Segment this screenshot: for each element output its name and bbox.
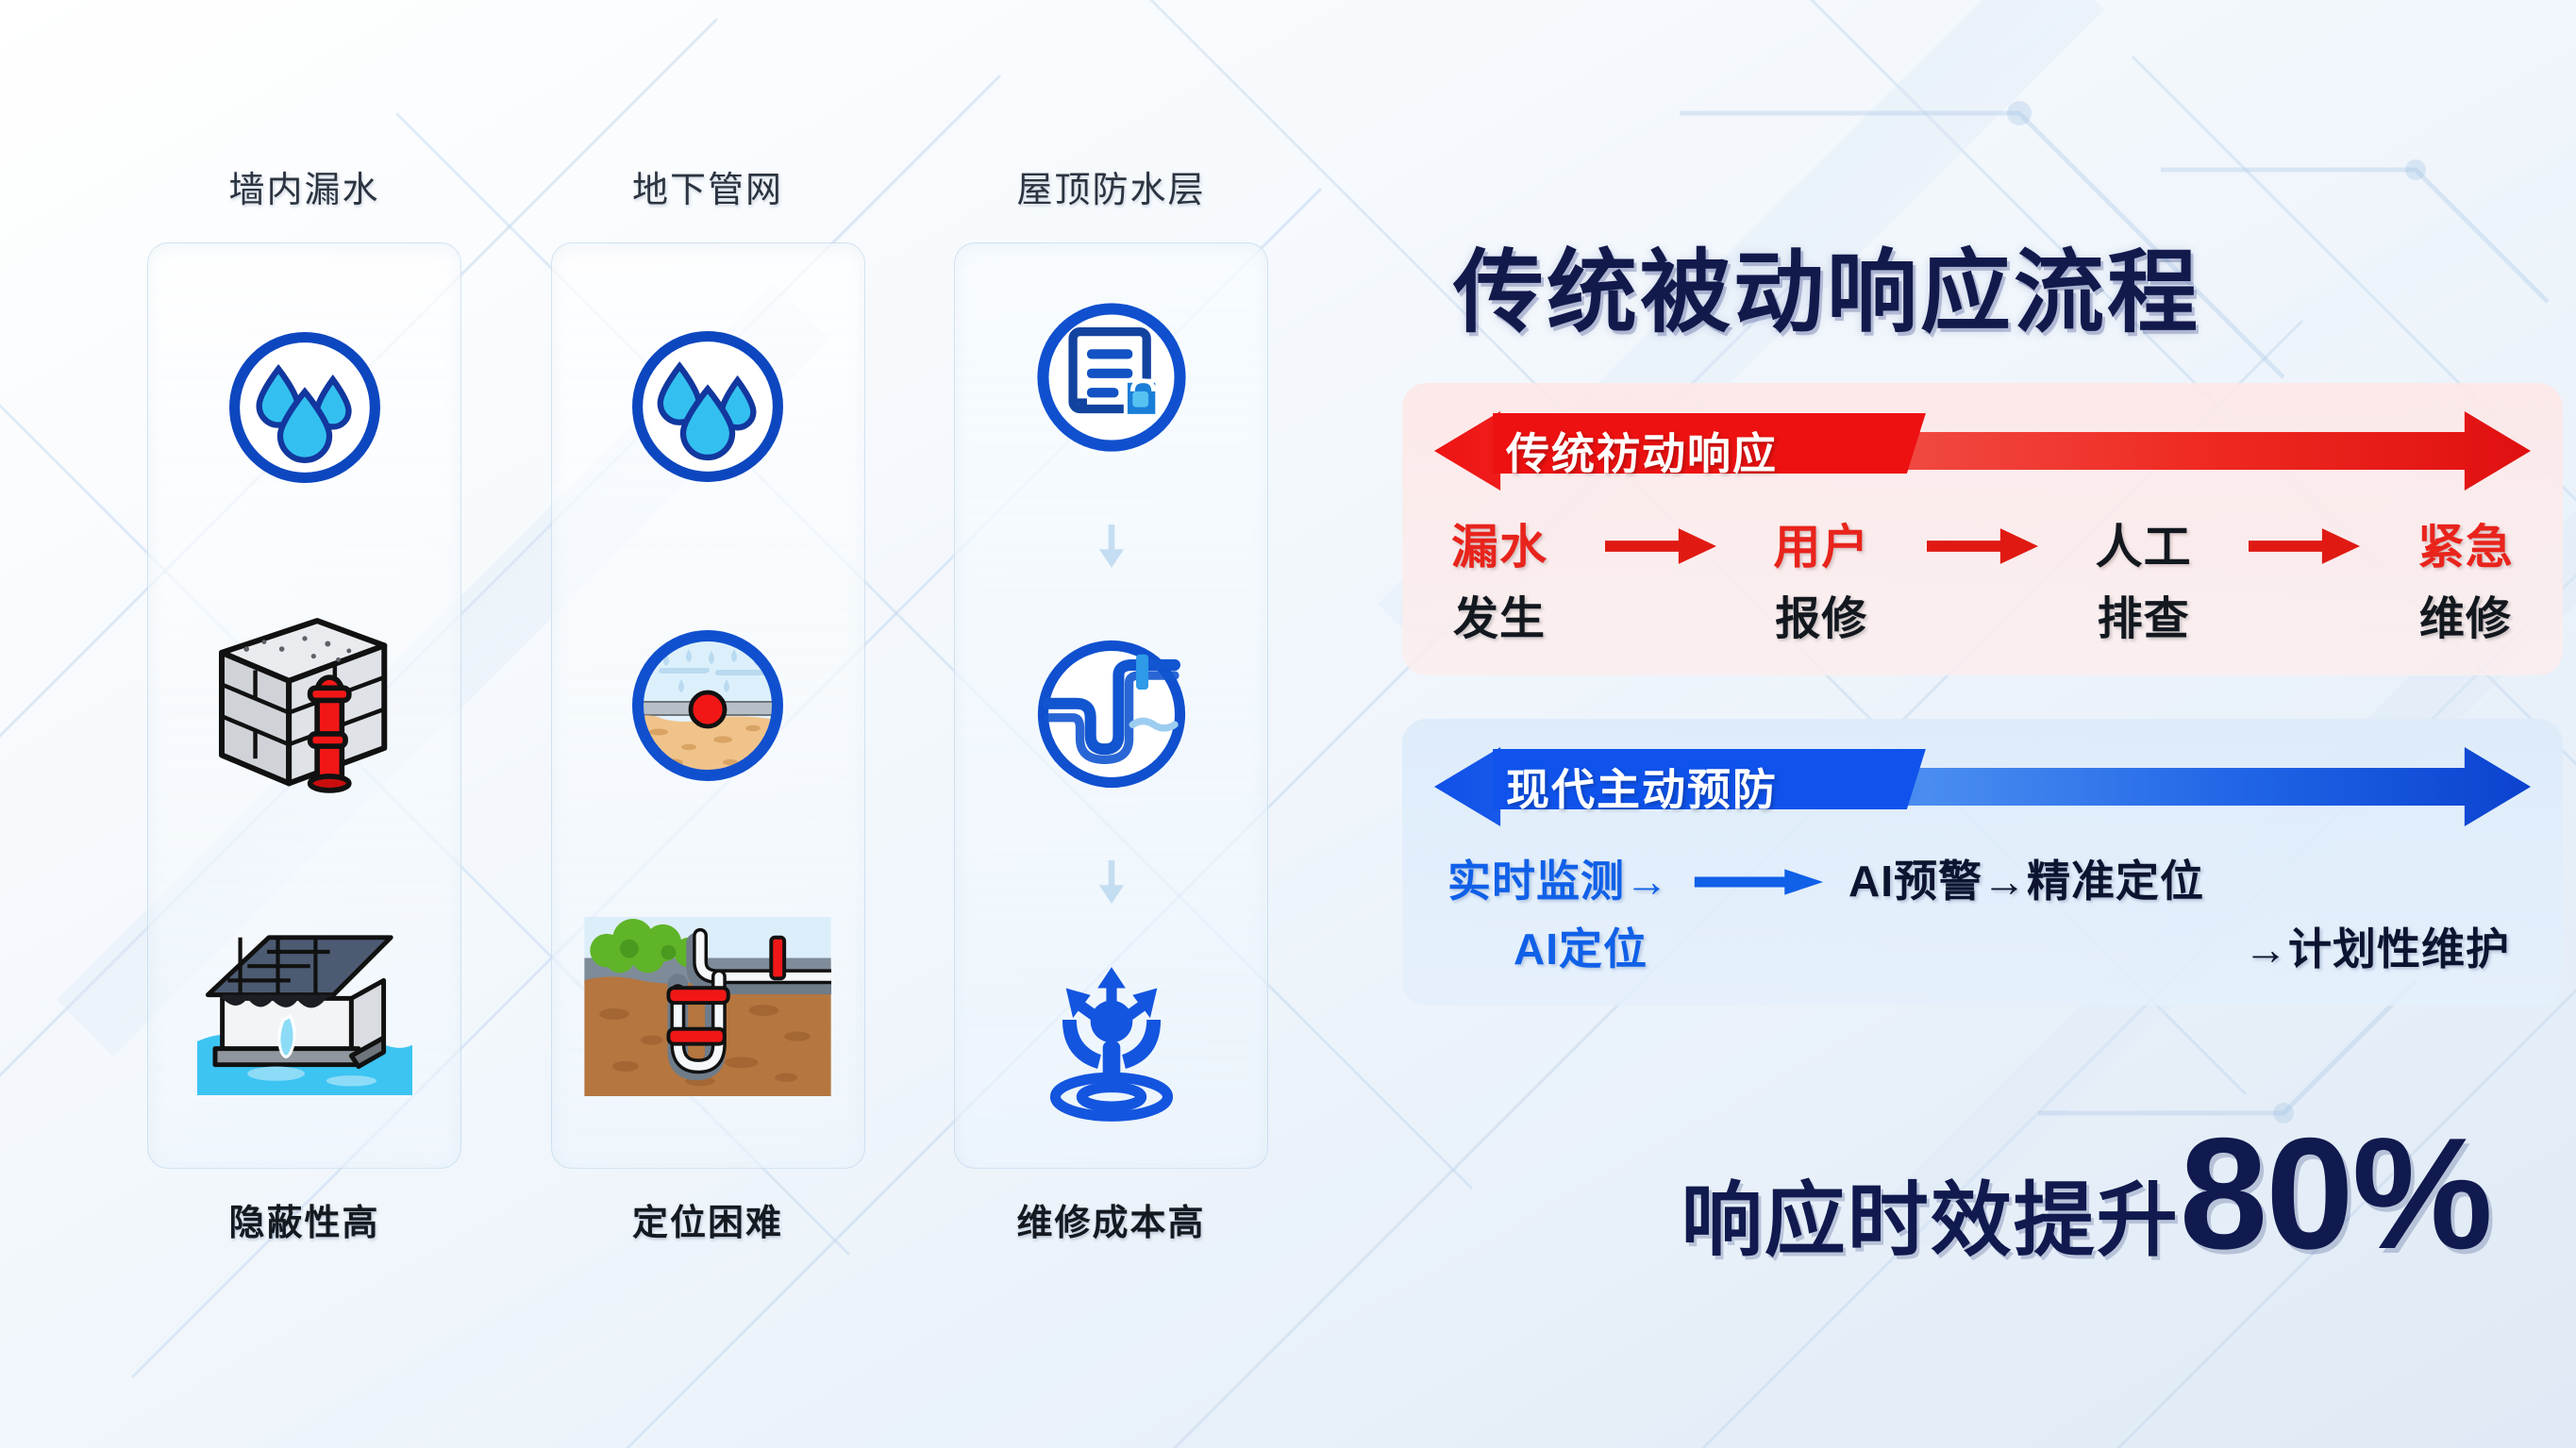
column-caption: 隐蔽性高 [228,1193,379,1245]
page-title: 传统被动响应流程 [1453,219,2200,350]
icon-slot [584,917,831,1096]
problem-column-underground-network[interactable]: 地下管网 [545,160,871,1245]
column-title: 地下管网 [632,160,783,212]
icon-slot [208,613,402,798]
modern-flow-card: 现代主动预防 实时监测→ AI预警→精准定位 AI定位 →计划性维护 [1402,719,2563,1006]
water-drops-circle-icon [620,319,795,494]
document-tag-circle-icon [1024,290,1199,465]
step-bottom-label: 排查 [2098,581,2190,647]
arrow-right-icon [1605,521,1716,572]
brick-wall-pipe-icon [208,613,402,798]
legacy-banner-label: 传统祊动响应 [1506,420,1778,482]
problem-column-wall-leak[interactable]: 墙内漏水 [142,160,467,1245]
modern-line1-right: AI预警→精准定位 [1848,847,2204,909]
column-card [954,242,1268,1169]
flow-step: 漏水 发生 [1451,509,1547,647]
column-title: 屋顶防水层 [1016,160,1205,212]
leak-detection-beacon-icon [1024,963,1199,1125]
icon-slot [1024,963,1199,1125]
icon-slot [1024,626,1199,802]
problem-column-roof-waterproofing[interactable]: 屋顶防水层 [948,160,1274,1245]
buried-pipe-section-icon [584,917,831,1096]
column-caption: 定位困难 [632,1193,783,1245]
step-top-label: 用户 [1773,509,1869,577]
modern-line1-left: 实时监测→ [1447,847,1669,909]
modern-banner-label: 现代主动预防 [1506,756,1778,818]
column-card [147,242,461,1169]
flow-step: 用户 报修 [1773,509,1869,647]
legacy-steps: 漏水 发生 用户 报修 人工 排查 [1434,509,2531,647]
modern-flow-banner: 现代主动预防 [1434,743,2531,830]
stat-value: 80% [2180,1123,2491,1265]
arrow-right-icon [1688,868,1830,896]
step-bottom-label: 发生 [1453,581,1546,647]
icon-slot [217,320,393,495]
icon-slot [613,611,802,800]
column-title: 墙内漏水 [228,160,379,212]
legacy-flow-card: 传统祊动响应 漏水 发生 用户 报修 [1402,383,2563,675]
underground-sensor-circle-icon [613,611,802,800]
flooded-house-icon [197,916,412,1095]
arrow-right-icon [1927,521,2038,572]
icon-slot [197,916,412,1095]
modern-flow-text: 实时监测→ AI预警→精准定位 AI定位 →计划性维护 [1434,847,2531,977]
step-bottom-label: 报修 [1775,581,1867,647]
water-drops-circle-icon [217,320,393,495]
modern-line2-right: →计划性维护 [2244,915,2510,977]
step-top-label: 紧急 [2417,509,2514,577]
problem-panel: 墙内漏水 [0,0,1359,1448]
problem-columns: 墙内漏水 [142,160,1274,1245]
chevron-down-icon [1092,860,1131,904]
column-card [551,242,865,1169]
stat-line: 响应时效提升 80% [1387,1123,2491,1272]
step-top-label: 漏水 [1451,509,1547,577]
column-caption: 维修成本高 [1016,1193,1205,1245]
step-top-label: 人工 [2096,509,2192,577]
stat-label: 响应时效提升 [1681,1154,2180,1272]
step-bottom-label: 维修 [2419,581,2512,647]
process-panel: 传统被动响应流程 [1359,0,2576,1448]
arrow-right-icon [2249,521,2360,572]
poster-stage: 墙内漏水 [0,0,2576,1448]
legacy-flow-banner: 传统祊动响应 [1434,408,2531,494]
pipe-trap-circle-icon [1024,626,1199,802]
chevron-down-icon [1092,524,1131,568]
icon-slot [1024,290,1199,465]
modern-line2-left: AI定位 [1514,915,1648,977]
flow-step: 人工 排查 [2096,509,2192,647]
flow-step: 紧急 维修 [2417,509,2514,647]
icon-slot [620,319,795,494]
